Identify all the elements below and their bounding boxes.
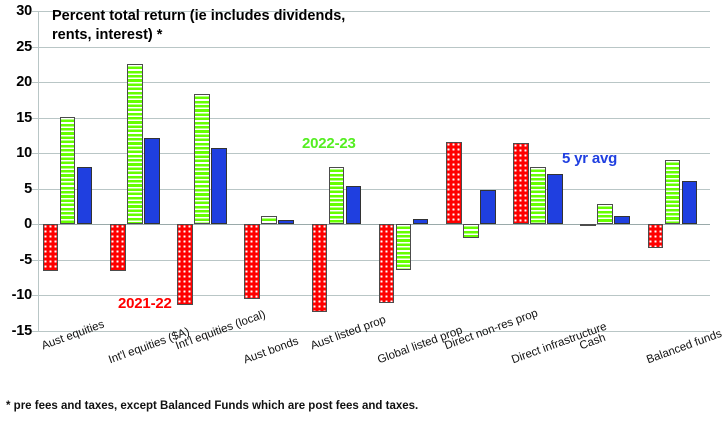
bar-5-yr-avg xyxy=(346,186,362,224)
bar-2021-22 xyxy=(513,143,529,224)
bar-2021-22 xyxy=(379,224,395,303)
x-axis-label: Aust bonds xyxy=(242,335,300,366)
bar-group xyxy=(643,11,710,331)
bar-2022-23 xyxy=(597,204,613,225)
y-axis-tick-label: -5 xyxy=(20,253,33,268)
bar-2021-22 xyxy=(110,224,126,270)
bar-5-yr-avg xyxy=(547,174,563,224)
chart-container: 302520151050-5-10-15 Percent total retur… xyxy=(0,0,723,421)
y-axis-tick-label: 30 xyxy=(16,4,32,19)
bar-2022-23 xyxy=(194,94,210,224)
series-label-5-yr-avg: 5 yr avg xyxy=(562,150,617,167)
y-axis-tick-label: 20 xyxy=(16,75,32,90)
bar-2021-22 xyxy=(446,142,462,224)
bar-group xyxy=(38,11,105,331)
y-axis-tick-label: 5 xyxy=(24,182,32,197)
bar-2022-23 xyxy=(329,167,345,225)
x-axis-label: Balanced funds xyxy=(645,328,723,366)
bar-2021-22 xyxy=(648,224,664,247)
bar-2021-22 xyxy=(177,224,193,305)
bar-2022-23 xyxy=(60,117,76,224)
bar-group xyxy=(374,11,441,331)
bar-5-yr-avg xyxy=(211,148,227,225)
bar-2021-22 xyxy=(43,224,59,270)
y-axis-labels: 302520151050-5-10-15 xyxy=(0,0,32,421)
y-axis-tick-label: -10 xyxy=(12,288,32,303)
bar-group xyxy=(240,11,307,331)
y-axis-tick-label: 25 xyxy=(16,40,32,55)
bar-2022-23 xyxy=(261,216,277,225)
y-axis-line xyxy=(38,11,39,331)
bar-2022-23 xyxy=(127,64,143,225)
bar-group xyxy=(307,11,374,331)
y-axis-tick-label: 15 xyxy=(16,111,32,126)
bar-2022-23 xyxy=(463,224,479,238)
bar-5-yr-avg xyxy=(144,138,160,225)
gridline xyxy=(38,331,710,332)
y-axis-tick xyxy=(32,331,38,332)
bar-group xyxy=(172,11,239,331)
bar-group xyxy=(576,11,643,331)
bar-5-yr-avg xyxy=(614,216,630,225)
y-axis-tick-label: 0 xyxy=(24,217,32,232)
bar-5-yr-avg xyxy=(278,220,294,224)
bar-2021-22 xyxy=(580,224,596,226)
bar-2022-23 xyxy=(530,167,546,224)
y-axis-tick-label: -15 xyxy=(12,324,32,339)
bar-5-yr-avg xyxy=(480,190,496,224)
bar-5-yr-avg xyxy=(77,167,93,224)
bar-group xyxy=(508,11,575,331)
bar-5-yr-avg xyxy=(682,181,698,224)
chart-title: Percent total return (ie includes divide… xyxy=(52,7,382,44)
bar-group xyxy=(441,11,508,331)
bar-5-yr-avg xyxy=(413,219,429,224)
bar-2022-23 xyxy=(665,160,681,224)
y-axis-tick-label: 10 xyxy=(16,146,32,161)
series-label-2021-22: 2021-22 xyxy=(118,295,172,312)
series-label-2022-23: 2022-23 xyxy=(302,135,356,152)
plot-area xyxy=(38,11,710,331)
bar-2022-23 xyxy=(396,224,412,270)
bar-2021-22 xyxy=(312,224,328,311)
bar-2021-22 xyxy=(244,224,260,299)
chart-footnote: * pre fees and taxes, except Balanced Fu… xyxy=(6,400,418,412)
bar-group xyxy=(105,11,172,331)
